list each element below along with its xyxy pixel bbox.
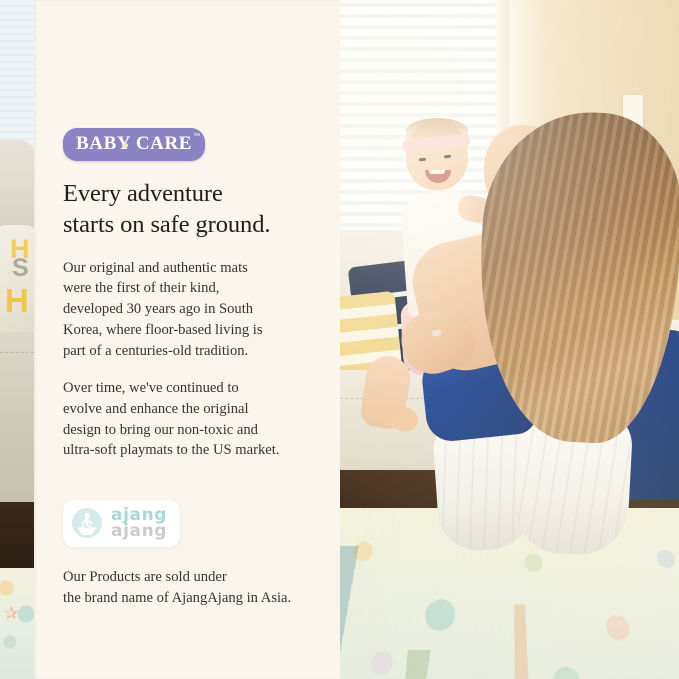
baby-care-brand-badge: BABY CARE ™ (63, 128, 205, 161)
product-brand-panel-screenshot: H S H ✰ BABY CARE ™ Every adventure star… (0, 0, 679, 679)
paragraph-two-line-4: ultra-soft playmats to the US market. (63, 440, 318, 461)
child-figure-base-shape (77, 527, 97, 535)
ajangajang-word-bottom: ajang (111, 523, 167, 540)
left-photo-strip: H S H ✰ (0, 0, 34, 679)
left-strip-sofa-seat (0, 332, 34, 507)
paragraph-one-line-1: Our original and authentic mats (63, 258, 318, 279)
left-strip-seat-stitching (0, 352, 34, 354)
photo-baby-teeth (429, 170, 445, 174)
content-panel-inner: BABY CARE ™ Every adventure starts on sa… (63, 128, 318, 623)
ajangajang-logo-lockup: ajang ajang (63, 500, 180, 547)
closing-paragraph: Our Products are sold under the brand na… (63, 567, 318, 608)
baby-care-badge-label: BABY CARE (76, 133, 192, 154)
left-strip-pillow-letter-h2: H (5, 284, 29, 317)
headline: Every adventure starts on safe ground. (63, 179, 318, 241)
baby-care-badge-accent-dot-icon (123, 143, 128, 148)
closing-paragraph-line-1: Our Products are sold under (63, 567, 318, 588)
lifestyle-photo (340, 0, 679, 679)
left-strip-window-blinds (0, 0, 34, 150)
paragraph-one-line-3: developed 30 years ago in South (63, 299, 318, 320)
headline-line-2: starts on safe ground. (63, 210, 318, 241)
paragraph-one: Our original and authentic mats were the… (63, 258, 318, 362)
paragraph-one-line-2: were the first of their kind, (63, 278, 318, 299)
trademark-icon: ™ (193, 133, 200, 140)
paragraph-two-line-1: Over time, we've continued to (63, 378, 318, 399)
ajangajang-wordmark: ajang ajang (111, 507, 167, 540)
content-panel: BABY CARE ™ Every adventure starts on sa… (34, 0, 340, 679)
paragraph-two-line-3: design to bring our non-toxic and (63, 420, 318, 441)
ajangajang-child-figure-icon (72, 508, 102, 538)
paragraph-one-line-4: Korea, where floor-based living is (63, 320, 318, 341)
paragraph-two-line-2: evolve and enhance the original (63, 399, 318, 420)
paragraph-two: Over time, we've continued to evolve and… (63, 378, 318, 461)
headline-line-1: Every adventure (63, 179, 318, 210)
closing-paragraph-line-2: the brand name of AjangAjang in Asia. (63, 588, 318, 609)
paragraph-one-line-5: part of a centuries-old tradition. (63, 341, 318, 362)
left-strip-playmat-star-icon: ✰ (4, 604, 18, 624)
left-strip-pillow-letter-s: S (12, 256, 29, 281)
